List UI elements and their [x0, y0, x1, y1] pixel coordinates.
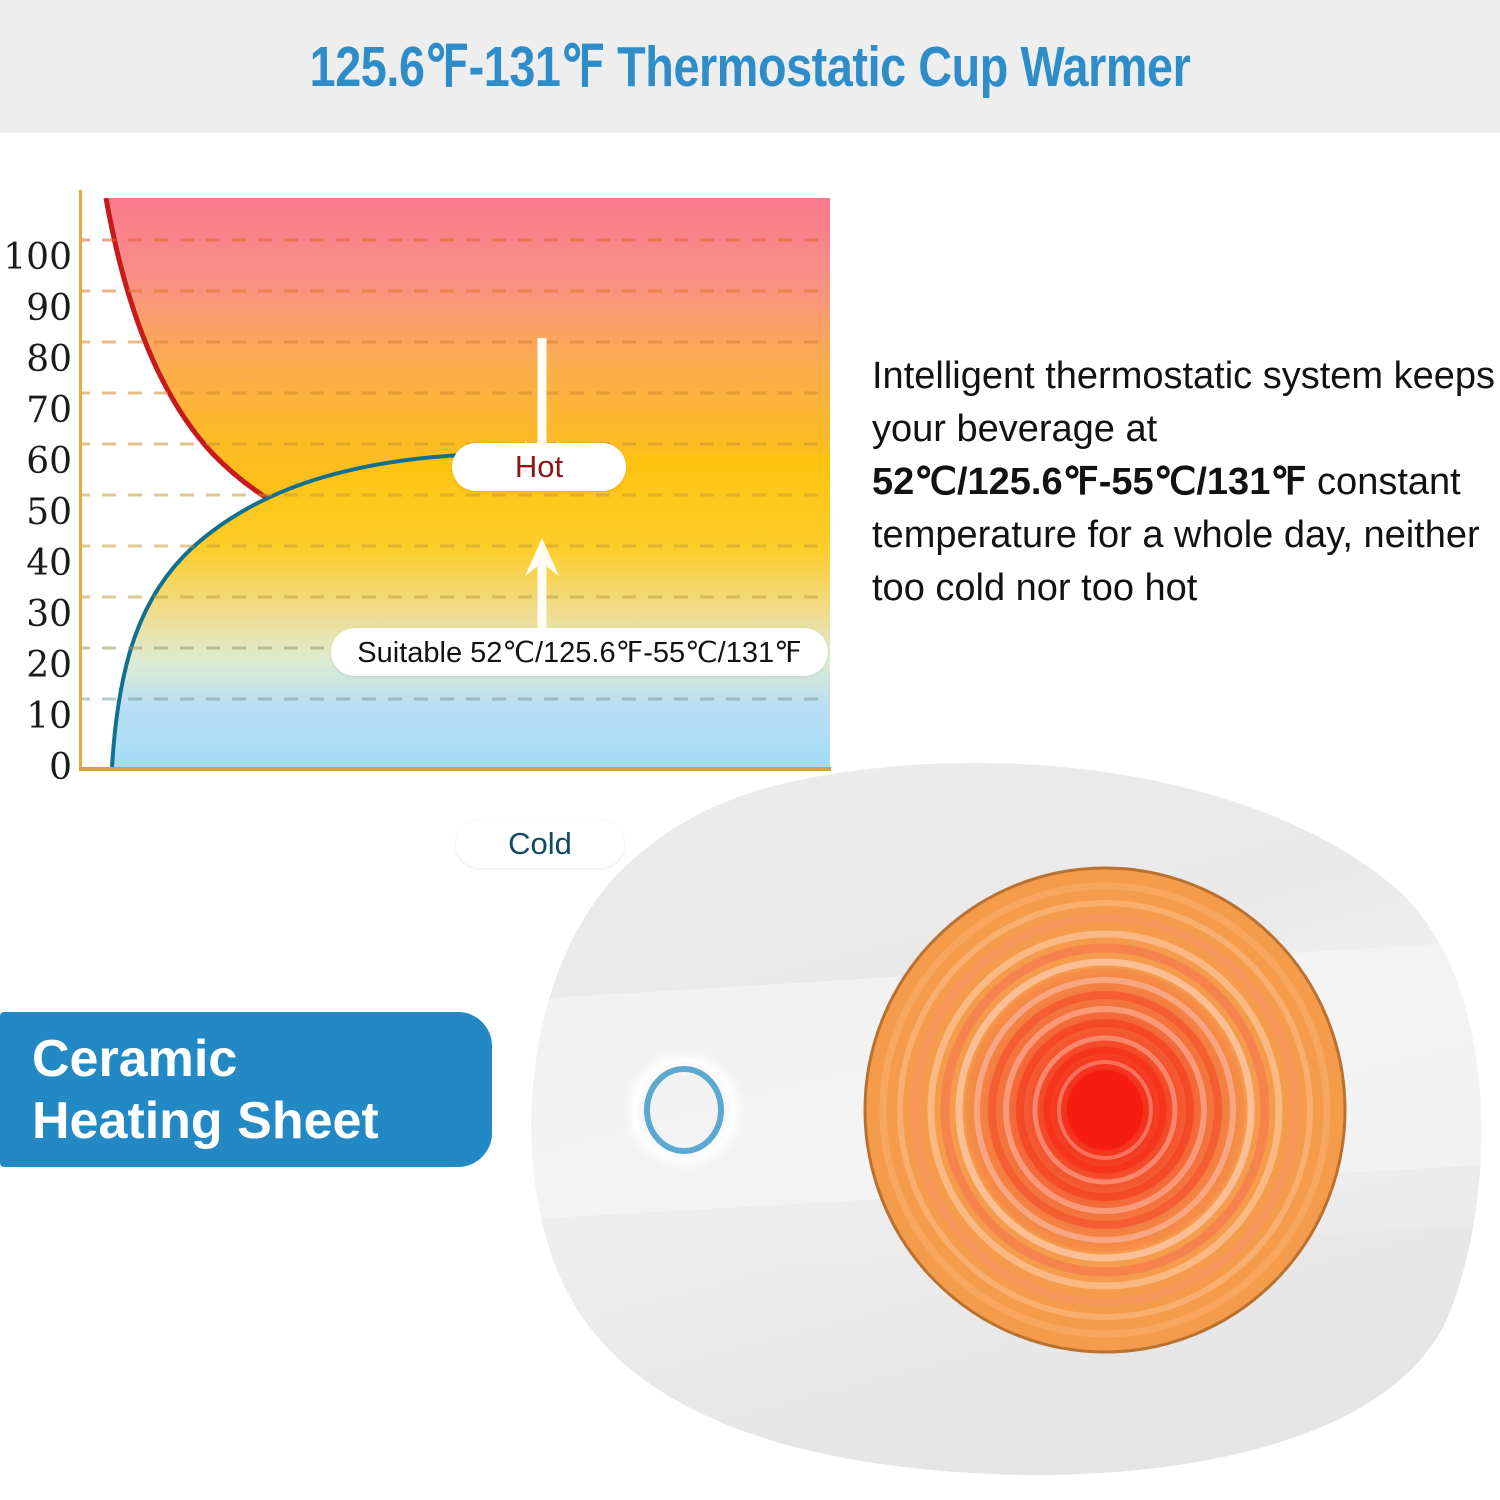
badge-line-1: Ceramic: [32, 1028, 492, 1090]
y-tick-50: 50: [0, 495, 72, 531]
cold-region: [112, 454, 830, 767]
heating-core-center: [1067, 1070, 1143, 1150]
y-tick-30: 30: [0, 597, 72, 633]
y-tick-20: 20: [0, 648, 72, 684]
desc-line-3a: constant: [1307, 461, 1461, 503]
y-tick-0: 0: [0, 750, 72, 786]
y-tick-70: 70: [0, 393, 72, 429]
y-tick-60: 60: [0, 444, 72, 480]
desc-temp-celsius-1: 52℃/: [872, 461, 968, 503]
desc-temp-range: 125.6℉-55℃/131℉: [968, 461, 1307, 503]
desc-line-1: Intelligent thermostatic system: [872, 355, 1383, 397]
desc-line-4: temperature for a whole day,: [872, 514, 1353, 556]
chart-plot-area: [82, 198, 830, 767]
y-axis-tick-labels: 100 90 80 70 60 50 40 30 20 10 0: [0, 170, 72, 790]
description-text: Intelligent thermostatic system keeps yo…: [872, 350, 1500, 615]
y-tick-10: 10: [0, 699, 72, 735]
y-tick-100: 100: [0, 240, 72, 276]
ceramic-heating-sheet-badge: Ceramic Heating Sheet: [0, 1012, 492, 1167]
hot-label-text: Hot: [515, 449, 563, 485]
hot-label-pill: Hot: [452, 443, 626, 491]
power-button: [622, 1048, 746, 1172]
y-tick-40: 40: [0, 546, 72, 582]
badge-line-2: Heating Sheet: [32, 1090, 492, 1152]
suitable-label-pill: Suitable 52℃/125.6℉-55℃/131℉: [331, 628, 828, 676]
page-title: 125.6℉-131℉ Thermostatic Cup Warmer: [135, 34, 1365, 100]
suitable-label-text: Suitable 52℃/125.6℉-55℃/131℉: [357, 635, 801, 670]
y-tick-80: 80: [0, 342, 72, 378]
cup-warmer-device: [520, 752, 1500, 1482]
temperature-chart: 100 90 80 70 60 50 40 30 20 10 0: [0, 170, 880, 810]
y-tick-90: 90: [0, 291, 72, 327]
infographic-page: 125.6℉-131℉ Thermostatic Cup Warmer 100 …: [0, 0, 1500, 1500]
